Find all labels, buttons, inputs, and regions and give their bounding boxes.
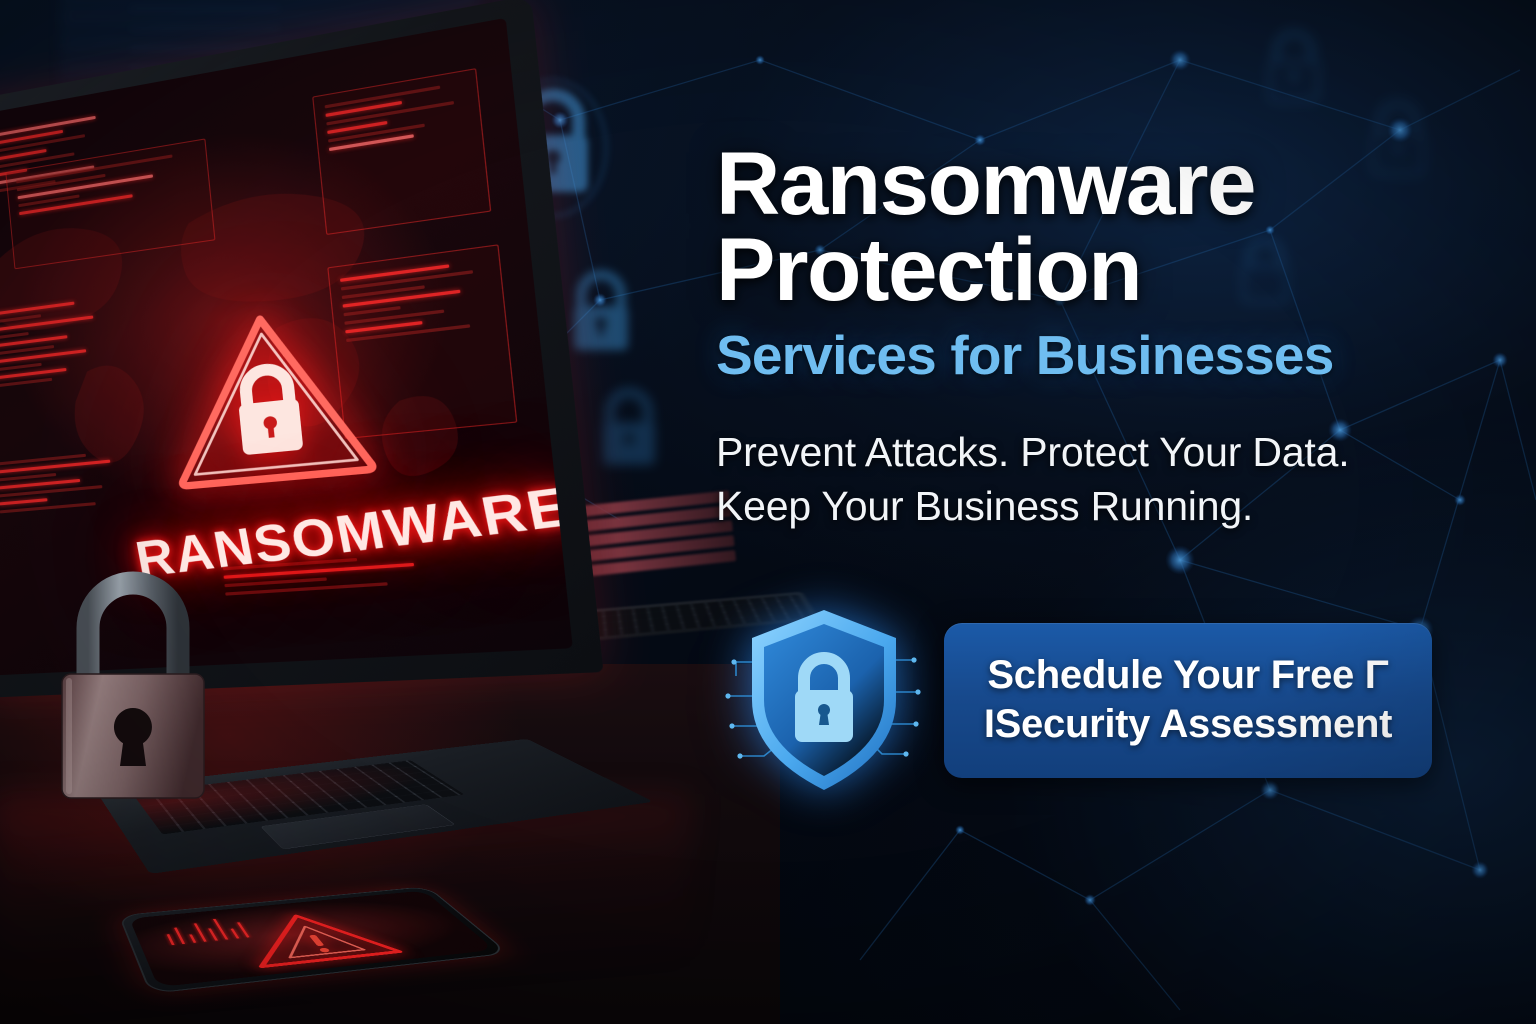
background-padlock-icon-2 bbox=[558, 262, 644, 370]
shield-lock-icon bbox=[724, 600, 924, 800]
warning-triangle-lock-icon bbox=[162, 298, 379, 491]
tagline-line-1: Prevent Attacks. Protect Your Data. bbox=[716, 429, 1349, 475]
metal-padlock-icon bbox=[48, 556, 218, 806]
tagline-line-2: Keep Your Business Running. bbox=[716, 479, 1476, 534]
background-padlock-icon-3 bbox=[588, 380, 670, 484]
cta-button-label: Schedule Your Free Γ ISecurity Assessmen… bbox=[984, 651, 1392, 749]
cta-label-line-2: ISecurity Assessment bbox=[984, 700, 1392, 749]
tagline: Prevent Attacks. Protect Your Data. Keep… bbox=[716, 425, 1476, 534]
banner-root: RANSOMWARE bbox=[0, 0, 1536, 1024]
page-title: Ransomware Protection bbox=[716, 140, 1476, 313]
cta-row: Schedule Your Free Γ ISecurity Assessmen… bbox=[716, 600, 1476, 800]
warning-triangle-icon bbox=[226, 907, 408, 971]
background-padlock-icon-4 bbox=[1256, 22, 1332, 118]
page-subtitle: Services for Businesses bbox=[716, 327, 1476, 383]
headline-line-2: Protection bbox=[716, 226, 1476, 312]
cta-label-line-1: Schedule Your Free Γ bbox=[987, 653, 1388, 697]
screen-code-column-3 bbox=[0, 450, 131, 519]
screen-code-column-2 bbox=[0, 298, 106, 393]
hero-copy: Ransomware Protection Services for Busin… bbox=[716, 140, 1476, 534]
headline-line-1: Ransomware bbox=[716, 133, 1255, 233]
schedule-assessment-button[interactable]: Schedule Your Free Γ ISecurity Assessmen… bbox=[944, 623, 1432, 778]
